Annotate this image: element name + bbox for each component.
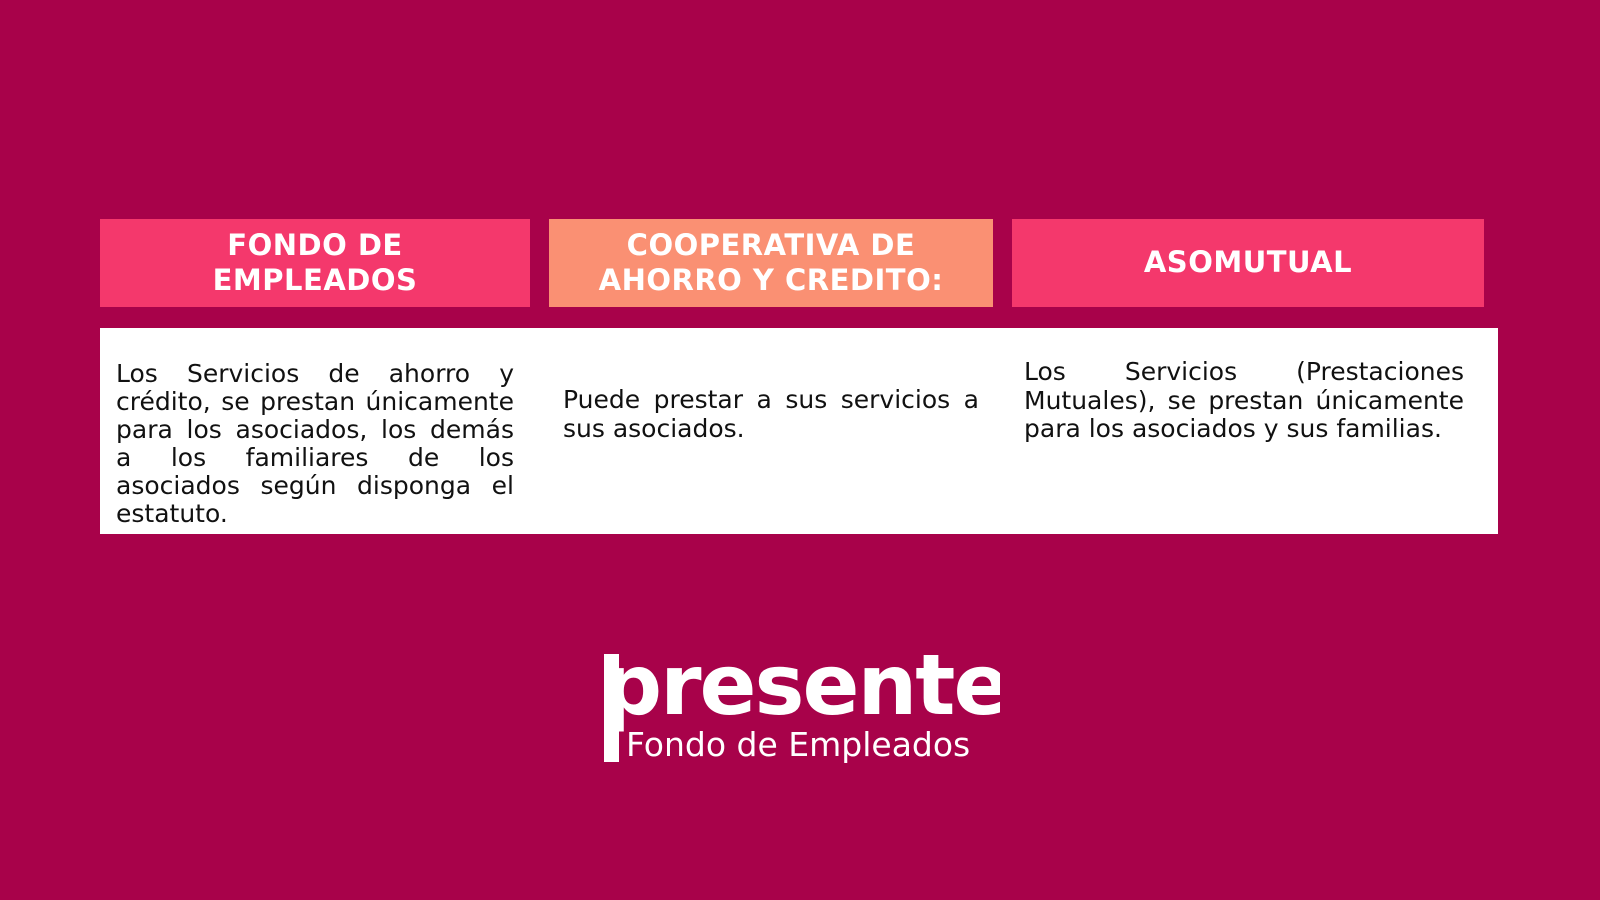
- comparison-body-panel: Los Servicios de ahorro y crédito, se pr…: [100, 328, 1498, 534]
- column-header-label: COOPERATIVA DE AHORRO Y CREDITO:: [599, 228, 944, 299]
- brand-logo: presente Fondo de Empleados: [0, 628, 1600, 768]
- column-body-fondo-de-empleados: Los Servicios de ahorro y crédito, se pr…: [100, 328, 530, 534]
- column-body-cooperativa-de-ahorro-y-credito: Puede prestar a sus servicios a sus asoc…: [549, 328, 993, 534]
- column-body-asomutual: Los Servicios (Prestaciones Mutuales), s…: [1012, 328, 1484, 534]
- column-header-label: FONDO DE EMPLEADOS: [213, 228, 418, 299]
- column-header-fondo-de-empleados: FONDO DE EMPLEADOS: [100, 219, 530, 307]
- brand-wordmark: presente: [602, 636, 1000, 734]
- column-header-label: ASOMUTUAL: [1144, 245, 1352, 280]
- slide-canvas: FONDO DE EMPLEADOS COOPERATIVA DE AHORRO…: [0, 0, 1600, 900]
- column-header-asomutual: ASOMUTUAL: [1012, 219, 1484, 307]
- column-header-cooperativa-de-ahorro-y-credito: COOPERATIVA DE AHORRO Y CREDITO:: [549, 219, 993, 307]
- column-body-text: Puede prestar a sus servicios a sus asoc…: [563, 386, 979, 443]
- column-body-text: Los Servicios de ahorro y crédito, se pr…: [116, 360, 514, 528]
- presente-logo-icon: presente Fondo de Empleados: [600, 628, 1000, 768]
- brand-tagline: Fondo de Empleados: [626, 725, 970, 764]
- column-body-text: Los Servicios (Prestaciones Mutuales), s…: [1024, 358, 1464, 444]
- comparison-header-row: FONDO DE EMPLEADOS COOPERATIVA DE AHORRO…: [100, 219, 1498, 307]
